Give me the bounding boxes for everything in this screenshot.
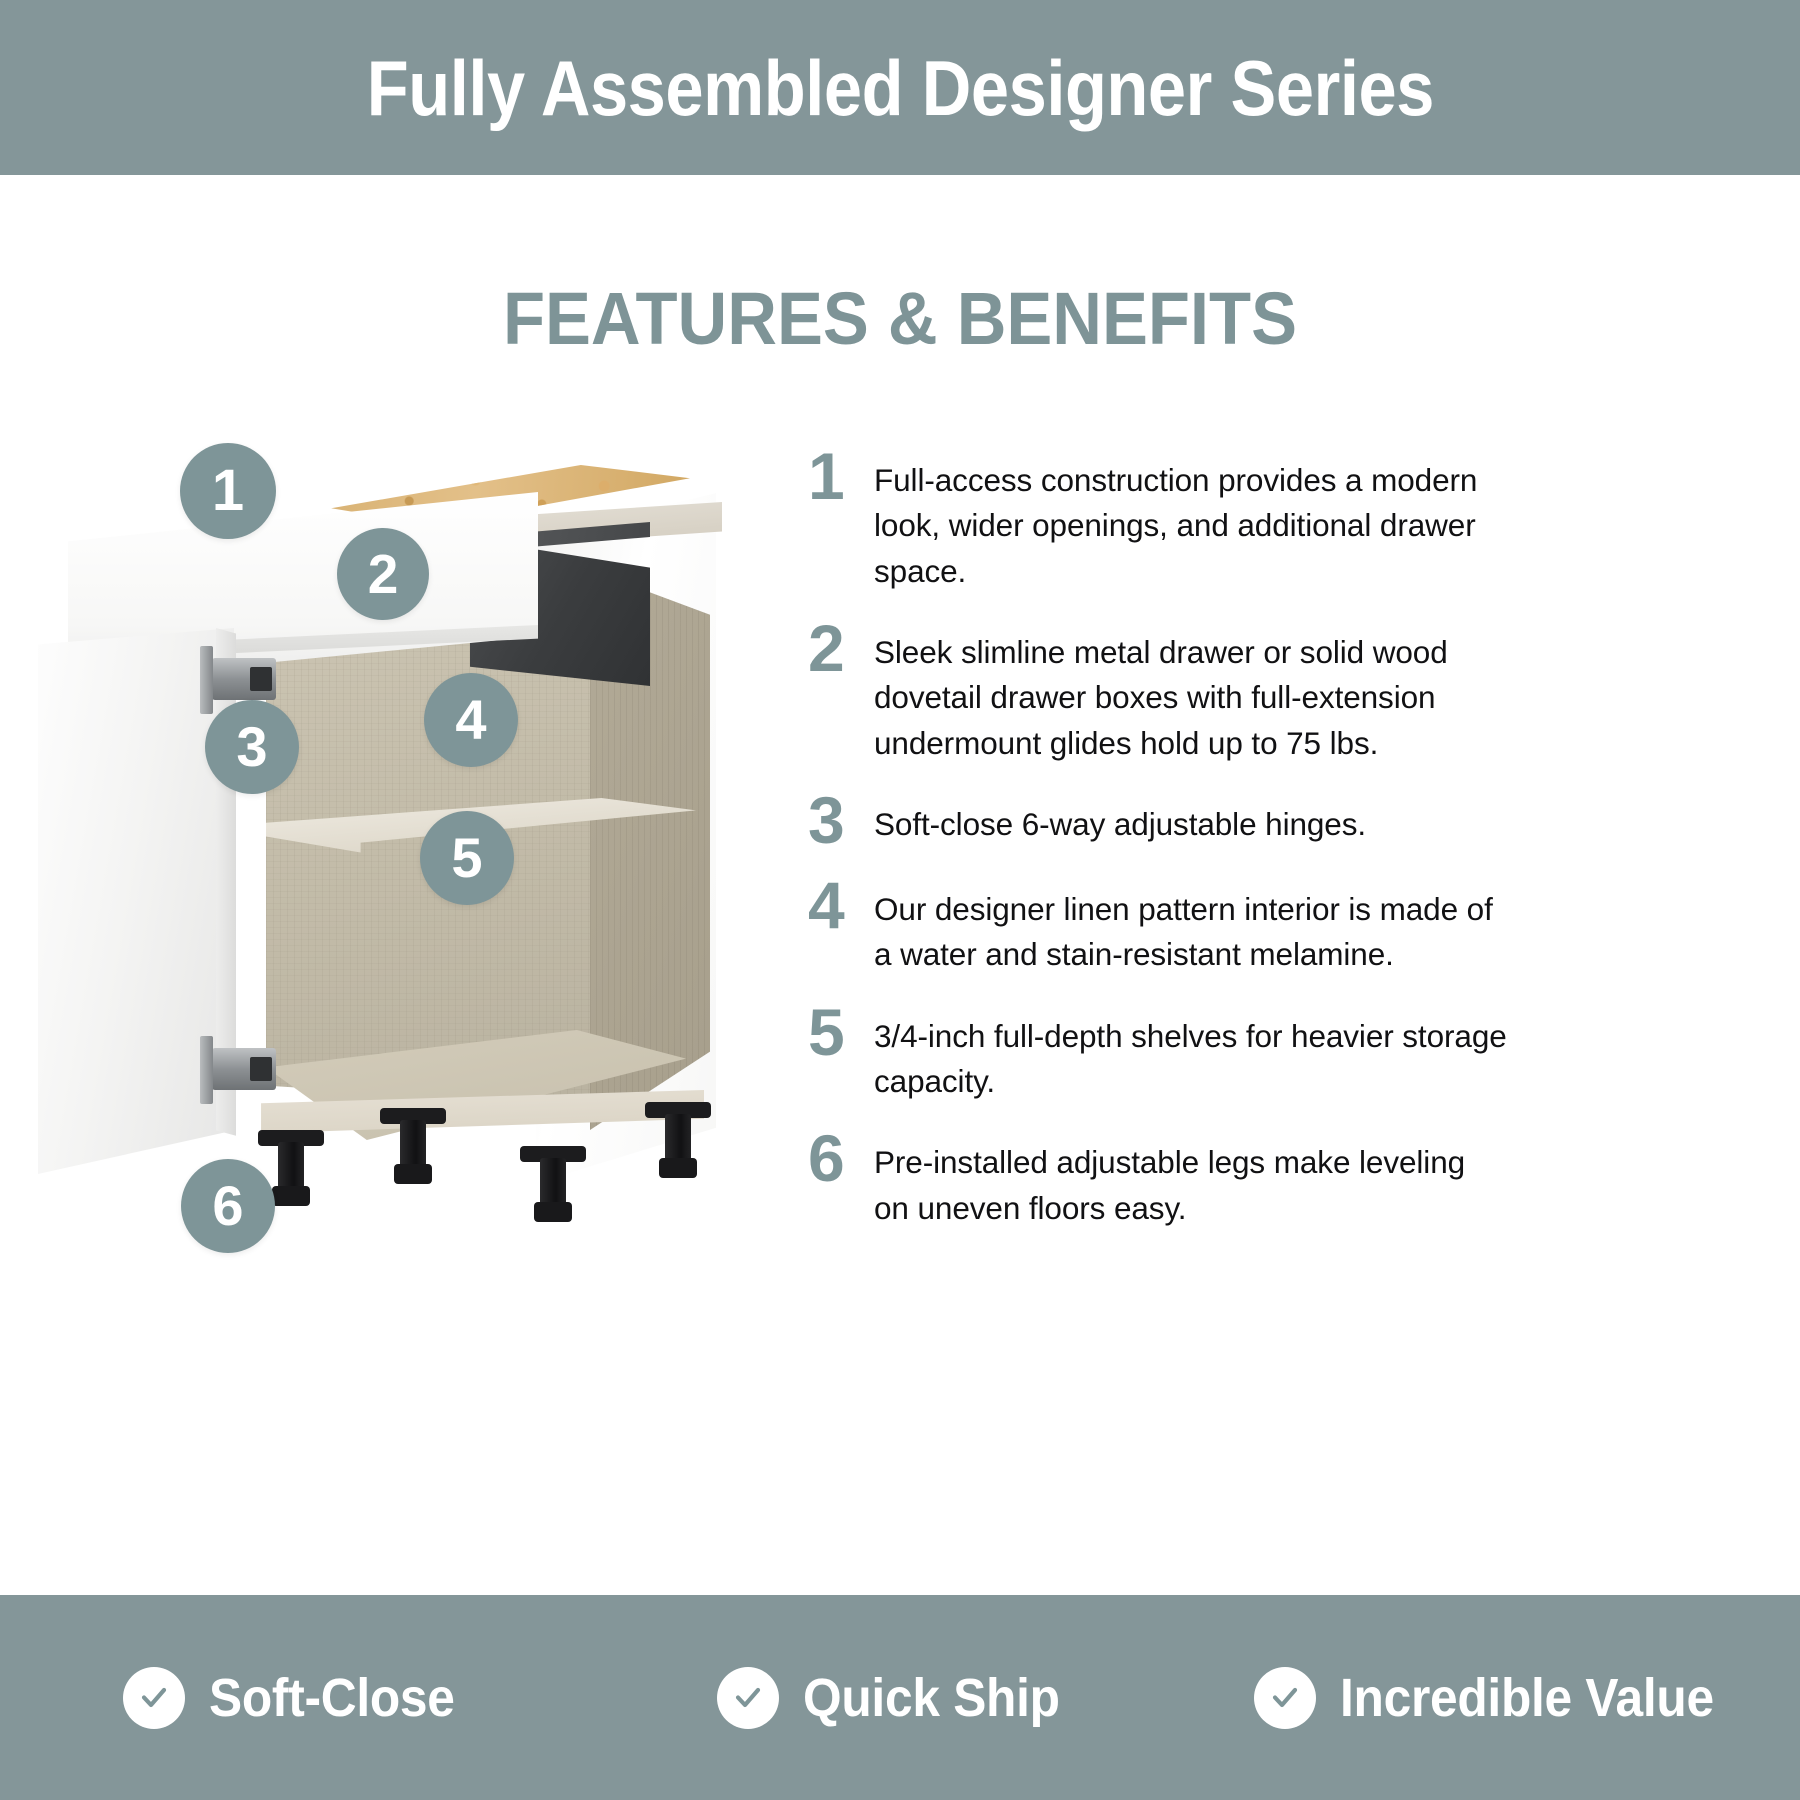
page-title: Fully Assembled Designer Series	[366, 49, 1433, 127]
feature-number: 3	[808, 790, 874, 851]
callout-badge-1[interactable]: 1	[180, 443, 276, 539]
leg-foot	[659, 1158, 697, 1178]
feature-number: 4	[808, 875, 874, 936]
features-list: 1 Full-access construction provides a mo…	[808, 452, 1508, 1261]
soft-close-hinge-bottom	[212, 1048, 276, 1090]
feature-text: Our designer linen pattern interior is m…	[874, 881, 1508, 978]
footer-label: Soft-Close	[209, 1671, 455, 1725]
callout-badge-2[interactable]: 2	[337, 528, 429, 620]
leg-foot	[272, 1186, 310, 1206]
feature-item: 2 Sleek slimline metal drawer or solid w…	[808, 624, 1508, 766]
feature-item: 5 3/4-inch full-depth shelves for heavie…	[808, 1008, 1508, 1105]
feature-item: 1 Full-access construction provides a mo…	[808, 452, 1508, 594]
feature-number: 5	[808, 1002, 874, 1063]
feature-number: 1	[808, 446, 874, 507]
callout-badge-3[interactable]: 3	[205, 700, 299, 794]
callout-badge-6[interactable]: 6	[181, 1159, 275, 1253]
feature-text: Pre-installed adjustable legs make level…	[874, 1134, 1508, 1231]
feature-item: 3 Soft-close 6-way adjustable hinges.	[808, 796, 1508, 851]
leg-foot	[534, 1202, 572, 1222]
footer-badge-incredible-value: Incredible Value	[1200, 1667, 1800, 1729]
feature-item: 6 Pre-installed adjustable legs make lev…	[808, 1134, 1508, 1231]
footer-badge-soft-close: Soft-Close	[0, 1667, 600, 1729]
feature-text: Sleek slimline metal drawer or solid woo…	[874, 624, 1508, 766]
check-circle-icon	[1254, 1667, 1316, 1729]
feature-text: 3/4-inch full-depth shelves for heavier …	[874, 1008, 1508, 1105]
page-footer: Soft-Close Quick Ship Incredible Value	[0, 1595, 1800, 1800]
footer-label: Quick Ship	[803, 1671, 1060, 1725]
leg-foot	[394, 1164, 432, 1184]
callout-badge-4[interactable]: 4	[424, 673, 518, 767]
feature-number: 2	[808, 618, 874, 679]
feature-number: 6	[808, 1128, 874, 1189]
footer-badge-quick-ship: Quick Ship	[600, 1667, 1200, 1729]
page-header: Fully Assembled Designer Series	[0, 0, 1800, 175]
section-heading: FEATURES & BENEFITS	[63, 282, 1737, 356]
feature-text: Full-access construction provides a mode…	[874, 452, 1508, 594]
footer-label: Incredible Value	[1340, 1671, 1714, 1725]
callout-badge-5[interactable]: 5	[420, 811, 514, 905]
feature-item: 4 Our designer linen pattern interior is…	[808, 881, 1508, 978]
check-circle-icon	[123, 1667, 185, 1729]
soft-close-hinge-top	[212, 658, 276, 700]
feature-text: Soft-close 6-way adjustable hinges.	[874, 796, 1508, 847]
check-circle-icon	[717, 1667, 779, 1729]
